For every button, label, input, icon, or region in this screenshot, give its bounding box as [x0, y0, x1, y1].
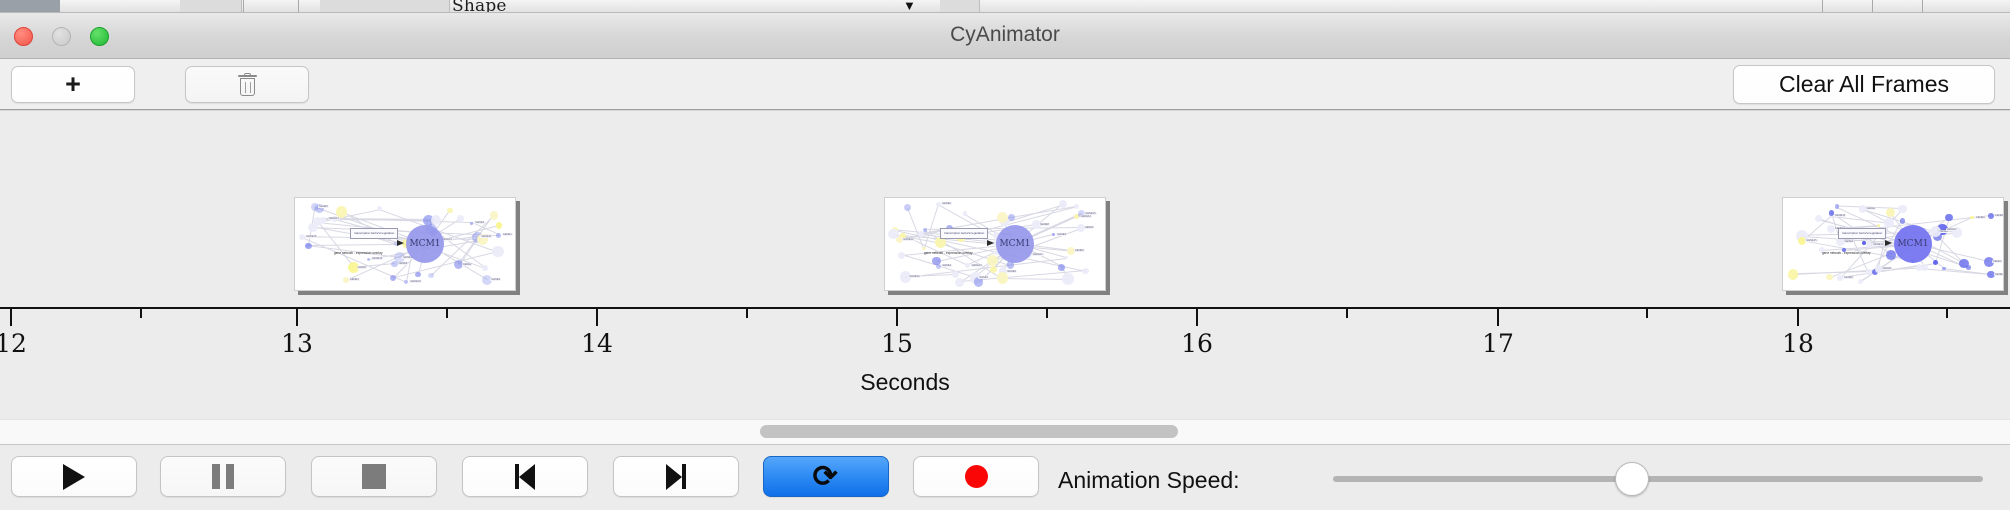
network-hub-node: MCM1	[996, 225, 1034, 263]
axis-tick-label: 13	[281, 329, 313, 358]
network-node-label: GENE11	[1032, 253, 1044, 256]
network-node-label: GENE9	[1006, 270, 1017, 273]
playback-control-bar: ⟲ Animation Speed:	[0, 445, 2010, 510]
horizontal-scrollbar-thumb[interactable]	[760, 425, 1178, 438]
background-divider	[298, 0, 299, 13]
network-hub-node: MCM1	[1894, 225, 1932, 263]
network-edge	[1011, 206, 1076, 218]
network-node-label: GENE2	[941, 202, 952, 205]
network-node	[391, 261, 398, 268]
network-node-label: GENE4	[941, 264, 952, 267]
network-node	[1074, 204, 1079, 209]
add-frame-button[interactable]: +	[11, 66, 135, 103]
frame-thumbnail[interactable]: GENE1GENE2GENE3GENE4GENE5GENE6GENE7GENE8…	[884, 197, 1106, 291]
network-annotation: transcription factor\nregulation	[350, 228, 398, 239]
network-node	[490, 211, 499, 220]
network-node	[963, 211, 967, 215]
network-node	[404, 280, 408, 284]
background-caret-icon: ▼	[903, 0, 916, 13]
background-divider	[243, 0, 244, 13]
network-node	[955, 278, 964, 287]
network-node-label: GENE12	[328, 217, 340, 220]
background-window-strip: ▼ Shape	[0, 0, 2010, 13]
network-node	[428, 273, 434, 279]
network-node-label: GENE15	[305, 235, 317, 238]
network-node	[888, 229, 899, 240]
network-node-label: GENE9	[490, 278, 501, 281]
network-node	[470, 222, 473, 225]
background-window-label: Shape	[452, 0, 507, 13]
pause-icon	[212, 464, 234, 489]
network-node-label: GENE3	[1056, 233, 1067, 236]
network-caption: gene network - expression overlay	[1822, 251, 1871, 255]
network-node	[936, 264, 941, 269]
annotation-arrow-icon	[987, 240, 994, 246]
network-node-label: GENE14	[1872, 243, 1884, 246]
network-node-label: GENE10	[409, 280, 421, 283]
plus-icon: +	[65, 71, 81, 98]
axis-tick-label: 15	[881, 329, 913, 358]
timeline-panel[interactable]: GENE1GENE2GENE3GENE4GENE5GENE6GENE7GENE8…	[0, 110, 2010, 419]
network-node	[415, 272, 421, 278]
network-node	[492, 246, 504, 258]
network-hub-node: MCM1	[406, 225, 444, 263]
network-node-label: GENE11	[480, 235, 492, 238]
axis-tick-minor	[446, 307, 448, 318]
network-caption: gene network - expression overlay	[924, 251, 973, 255]
network-node	[1866, 269, 1872, 275]
network-node-label: GENE16	[908, 275, 920, 278]
network-node-label: GENE8	[1039, 223, 1050, 226]
skip-to-start-icon	[515, 464, 535, 490]
trash-icon	[238, 73, 257, 97]
slider-track[interactable]	[1333, 476, 1983, 482]
background-divider	[1922, 0, 1923, 13]
network-node-label: GENE9	[1975, 216, 1986, 219]
network-node-label: GENE2	[1844, 240, 1855, 243]
network-node	[482, 265, 488, 271]
network-graph: GENE1GENE2GENE3GENE4GENE5GENE6GENE7GENE8…	[888, 201, 1102, 287]
network-node	[997, 272, 1009, 284]
network-node	[1065, 256, 1068, 259]
axis-tick-label: 18	[1782, 329, 1814, 358]
frame-thumbnail[interactable]: GENE1GENE2GENE3GENE4GENE5GENE6GENE7GENE8…	[1782, 197, 2004, 291]
network-node-label: GENE3	[1992, 260, 2003, 263]
network-node	[1970, 216, 1973, 219]
network-node	[1945, 214, 1952, 221]
network-node	[457, 215, 464, 222]
network-node	[936, 202, 941, 207]
background-divider	[1822, 0, 1823, 13]
network-node	[1966, 265, 1971, 270]
network-node-label: GENE1	[1866, 207, 1877, 210]
network-node-label: GENE5	[1084, 226, 1095, 229]
network-node	[923, 228, 927, 232]
network-node	[1898, 205, 1907, 214]
network-node-label: GENE2	[462, 263, 473, 266]
axis-tick-minor	[1046, 307, 1048, 318]
axis-tick-minor	[140, 307, 142, 318]
network-node-label: GENE7	[357, 266, 368, 269]
pause-button[interactable]	[160, 456, 286, 497]
axis-tick-minor	[1346, 307, 1348, 318]
network-node	[997, 212, 1008, 223]
horizontal-scrollbar[interactable]	[0, 419, 2010, 445]
loop-icon: ⟲	[813, 462, 838, 492]
network-node	[1052, 233, 1055, 236]
network-node	[1788, 269, 1799, 280]
window-title: CyAnimator	[0, 23, 2010, 47]
network-node-label: GENE12	[902, 238, 914, 241]
network-node	[390, 275, 396, 281]
skip-to-end-icon	[666, 464, 686, 490]
skip-to-start-button[interactable]	[462, 456, 588, 497]
axis-tick-major	[1497, 307, 1499, 326]
background-toolbar-chunk	[320, 0, 450, 13]
network-node	[447, 208, 452, 213]
skip-to-end-button[interactable]	[613, 456, 739, 497]
network-node	[496, 233, 501, 238]
axis-tick-label: 17	[1482, 329, 1514, 358]
network-node	[1815, 215, 1822, 222]
network-node	[1837, 275, 1843, 281]
animation-speed-slider[interactable]	[1333, 476, 1983, 482]
axis-tick-label: 12	[0, 329, 27, 358]
network-node-label: GENE10	[1834, 214, 1846, 217]
network-node-label: GENE6	[1074, 249, 1085, 252]
network-node-label: GENE1	[502, 233, 513, 236]
network-node-label: GENE4	[474, 221, 485, 224]
network-node	[1062, 273, 1074, 285]
network-node	[987, 255, 998, 266]
network-node	[1058, 264, 1065, 271]
network-node-label: GENE5	[318, 205, 329, 208]
network-node-label: GENE14	[1080, 215, 1092, 218]
axis-title: Seconds	[0, 369, 2010, 396]
network-node	[305, 243, 310, 248]
network-node-label: GENE10	[971, 264, 983, 267]
network-node	[1884, 218, 1893, 227]
axis-tick-major	[1797, 307, 1799, 326]
network-node	[952, 271, 959, 278]
network-node-label: GENE6	[1882, 267, 1893, 270]
network-node-label: GENE8	[1994, 214, 2004, 217]
frame-toolbar: + Clear All Frames	[0, 59, 2010, 110]
network-node-label: GENE5	[1843, 276, 1854, 279]
timeline-axis-line	[0, 307, 2010, 309]
network-node-label: GENE16	[1994, 273, 2004, 276]
network-annotation: transcription factor\nregulation	[1838, 228, 1886, 239]
network-node	[1988, 213, 1994, 219]
play-icon	[63, 464, 85, 490]
axis-tick-major	[1196, 307, 1198, 326]
network-node-label: GENE11	[1946, 228, 1958, 231]
axis-tick-major	[296, 307, 298, 326]
axis-tick-major	[896, 307, 898, 326]
network-node	[313, 217, 322, 226]
network-node	[367, 258, 370, 261]
window-titlebar: CyAnimator	[0, 13, 2010, 59]
axis-tick-minor	[1646, 307, 1648, 318]
network-edge	[907, 208, 924, 249]
stop-icon	[362, 464, 386, 489]
network-node	[990, 266, 997, 273]
network-node-label: GENE1	[978, 276, 989, 279]
axis-tick-major	[10, 307, 12, 326]
network-node	[496, 222, 502, 228]
network-node-label: GENE15	[1084, 212, 1096, 215]
play-button[interactable]	[11, 456, 137, 497]
background-window-sidebar	[0, 0, 60, 13]
animation-speed-label: Animation Speed:	[1058, 467, 1240, 494]
background-divider	[1872, 0, 1873, 13]
network-node	[1082, 268, 1088, 274]
network-node-label: GENE3	[349, 278, 360, 281]
background-toolbar-chunk	[180, 0, 242, 13]
network-node-label: GENE15	[1805, 239, 1817, 242]
delete-frame-button[interactable]	[185, 66, 309, 103]
axis-tick-label: 14	[581, 329, 613, 358]
network-graph: GENE1GENE2GENE3GENE4GENE5GENE6GENE7GENE8…	[1786, 201, 2000, 287]
network-node	[1933, 260, 1938, 265]
stop-button[interactable]	[311, 456, 437, 497]
network-node	[898, 252, 906, 260]
annotation-arrow-icon	[1885, 240, 1892, 246]
axis-tick-minor	[1946, 307, 1948, 318]
network-node	[965, 263, 970, 268]
network-node	[904, 204, 911, 211]
axis-tick-minor	[746, 307, 748, 318]
network-node	[922, 247, 926, 251]
network-node	[918, 231, 923, 236]
axis-tick-major	[596, 307, 598, 326]
loop-toggle-button[interactable]: ⟲	[763, 456, 889, 497]
annotation-arrow-icon	[397, 240, 404, 246]
network-caption: gene network - expression overlay	[334, 251, 383, 255]
network-graph: GENE1GENE2GENE3GENE4GENE5GENE6GENE7GENE8…	[298, 201, 512, 287]
record-button[interactable]	[913, 456, 1039, 497]
network-annotation: transcription factor\nregulation	[940, 228, 988, 239]
network-edge	[1002, 278, 1068, 280]
network-node-label: GENE13	[371, 257, 383, 260]
record-icon	[965, 465, 988, 488]
clear-all-frames-button[interactable]: Clear All Frames	[1733, 65, 1995, 104]
network-node	[1921, 264, 1928, 271]
network-node	[935, 237, 946, 248]
axis-tick-label: 16	[1181, 329, 1213, 358]
network-node-label: GENE8	[398, 262, 409, 265]
slider-thumb[interactable]	[1615, 462, 1649, 496]
network-node	[1826, 274, 1833, 281]
background-toolbar-chunk	[940, 0, 980, 13]
network-node	[1858, 279, 1864, 285]
frame-thumbnail[interactable]: GENE1GENE2GENE3GENE4GENE5GENE6GENE7GENE8…	[294, 197, 516, 291]
